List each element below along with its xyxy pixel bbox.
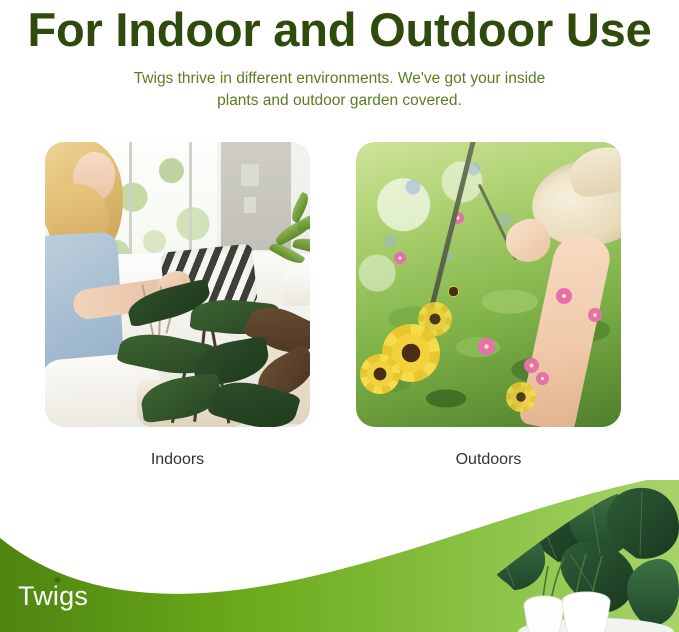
pink-flower bbox=[588, 308, 602, 322]
banner-wave-graphic bbox=[0, 480, 679, 632]
pink-flower bbox=[524, 358, 539, 373]
rubber-plant bbox=[107, 284, 310, 427]
image-card-row bbox=[0, 142, 679, 432]
pink-flower bbox=[478, 338, 495, 355]
sunflower bbox=[360, 354, 400, 394]
pink-flower bbox=[536, 372, 549, 385]
sunflower bbox=[506, 382, 536, 412]
pink-flower bbox=[556, 288, 572, 304]
page-subtitle: Twigs thrive in different environments. … bbox=[130, 68, 550, 112]
header: For Indoor and Outdoor Use Twigs thrive … bbox=[0, 0, 679, 112]
indoor-image-card bbox=[45, 142, 310, 427]
leaf-icon bbox=[52, 575, 63, 586]
pink-flower bbox=[394, 252, 406, 264]
page-title: For Indoor and Outdoor Use bbox=[0, 0, 679, 58]
flower-bud bbox=[448, 286, 459, 297]
image-captions: Indoors Outdoors bbox=[0, 449, 679, 475]
wall-frame bbox=[241, 164, 259, 186]
caption-indoors: Indoors bbox=[45, 449, 310, 471]
brand-banner bbox=[0, 480, 679, 632]
indoor-photo bbox=[45, 142, 310, 427]
spider-plant bbox=[267, 194, 310, 276]
outdoor-image-card bbox=[356, 142, 621, 427]
caption-outdoors: Outdoors bbox=[356, 449, 621, 471]
promo-page: For Indoor and Outdoor Use Twigs thrive … bbox=[0, 0, 679, 632]
outdoor-photo bbox=[356, 142, 621, 427]
